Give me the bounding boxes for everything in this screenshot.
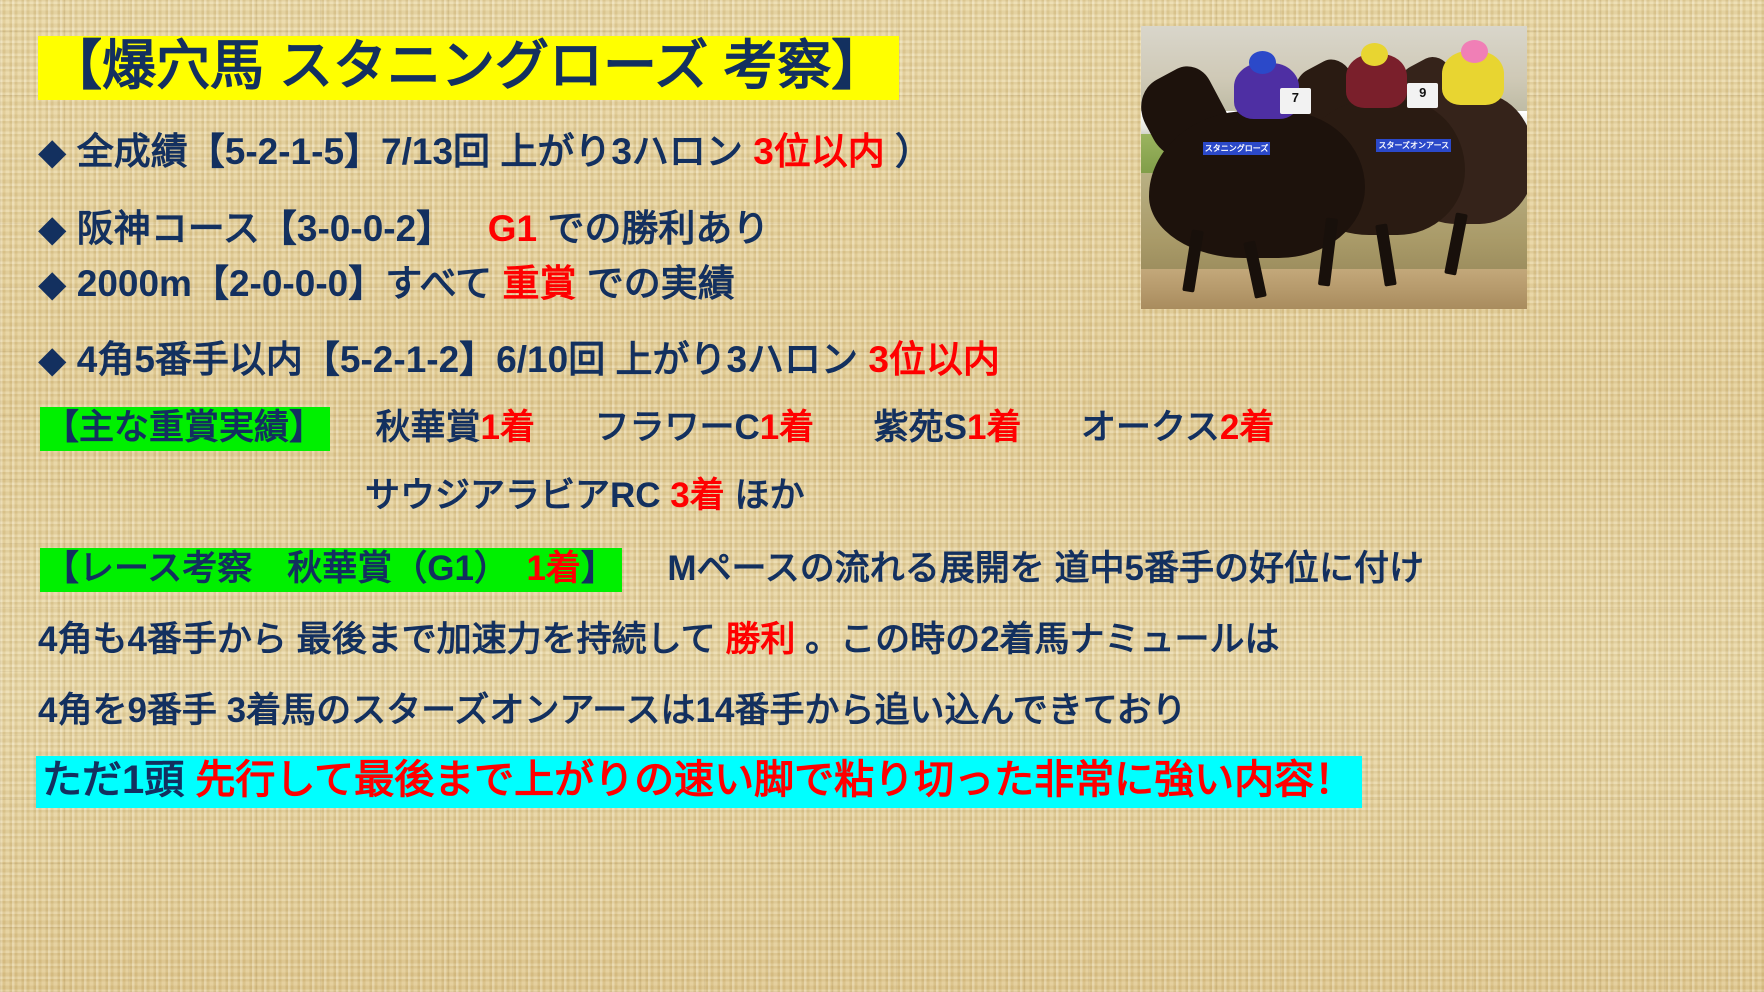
- race-review-heading: 【レース考察 秋華賞（G1） 1着】: [40, 548, 622, 592]
- major-win-race: 紫苑S: [874, 408, 967, 447]
- hanshin-course-tail: での勝利あり: [547, 208, 769, 249]
- race-review-body-2-post: 。この時の2着馬ナミュールは: [805, 620, 1279, 659]
- hanshin-course-emphasis: G1: [488, 208, 537, 249]
- photo-jockey-cap: [1461, 40, 1488, 63]
- major-wins-heading: 【主な重賞実績】: [40, 407, 330, 451]
- major-wins-second-row: サウジアラビアRC 3着 ほか: [365, 478, 805, 513]
- photo-jockey-cap: [1249, 51, 1276, 74]
- fourth-corner-label: 4角5番手以内【5-2-1-2】6/10回 上がり3ハロン: [77, 339, 858, 380]
- page-title: 【爆穴馬 スタニングローズ 考察】: [38, 36, 899, 100]
- conclusion-emphasis: 先行して最後まで上がりの速い脚で粘り切った非常に強い内容！: [195, 758, 1354, 802]
- stat-line-distance-2000: ◆ 2000m【2-0-0-0】すべて 重賞 での実績: [38, 265, 735, 302]
- race-review-body-2-emphasis: 勝利: [725, 620, 795, 659]
- race-review-body-3-row: 4角を9番手 3着馬のスターズオンアースは14番手から追い込んできており: [38, 693, 1187, 728]
- conclusion-pre: ただ1頭: [42, 758, 195, 802]
- photo-jockey-cap: [1361, 43, 1388, 66]
- slide-canvas: 【爆穴馬 スタニングローズ 考察】 9 スターズオンアース 7 スタニングローズ…: [0, 0, 1764, 992]
- conclusion-highlight: ただ1頭 先行して最後まで上がりの速い脚で粘り切った非常に強い内容！: [36, 756, 1362, 808]
- distance-2000-label: 2000m【2-0-0-0】すべて: [77, 263, 492, 304]
- distance-2000-emphasis: 重賞: [502, 263, 576, 304]
- major-win-race: サウジアラビアRC: [365, 476, 661, 515]
- race-review-heading-post: 】: [581, 549, 616, 588]
- conclusion-row: ただ1頭 先行して最後まで上がりの速い脚で粘り切った非常に強い内容！: [36, 760, 1362, 800]
- major-win-item: フラワーC1着: [594, 408, 814, 447]
- bullet-diamond-icon: ◆: [38, 339, 66, 380]
- photo-saddle-number: 7: [1280, 88, 1311, 113]
- major-win-race: フラワーC: [594, 408, 759, 447]
- bullet-diamond-icon: ◆: [38, 263, 66, 304]
- major-win-place: 1着: [481, 408, 535, 447]
- major-win-item: オークス2着: [1081, 408, 1274, 447]
- stat-line-hanshin-course: ◆ 阪神コース【3-0-0-2】 G1 での勝利あり: [38, 210, 769, 247]
- total-record-emphasis: 3位以内: [753, 131, 885, 172]
- major-win-place: 2着: [1220, 408, 1274, 447]
- page-title-text: 【爆穴馬 スタニングローズ 考察】: [48, 36, 885, 96]
- major-win-race: 秋華賞: [375, 408, 480, 447]
- major-win-place: 1着: [967, 408, 1021, 447]
- major-win-race: オークス: [1081, 408, 1220, 447]
- photo-track-edge: [1141, 269, 1527, 309]
- horse-race-photo: 9 スターズオンアース 7 スタニングローズ: [1141, 26, 1527, 309]
- total-record-label: 全成績【5-2-1-5】7/13回 上がり3ハロン: [77, 131, 743, 172]
- fourth-corner-emphasis: 3位以内: [868, 339, 1000, 380]
- major-win-item: 秋華賞1着: [375, 408, 534, 447]
- major-win-item: 紫苑S1着: [874, 408, 1022, 447]
- race-review-body-3: 4角を9番手 3着馬のスターズオンアースは14番手から追い込んできており: [38, 691, 1187, 730]
- major-win-place: 3着: [670, 476, 724, 515]
- race-review-heading-row: 【レース考察 秋華賞（G1） 1着】 Mペースの流れる展開を 道中5番手の好位に…: [40, 551, 1424, 586]
- stat-line-fourth-corner: ◆ 4角5番手以内【5-2-1-2】6/10回 上がり3ハロン 3位以内: [38, 341, 1000, 378]
- stat-line-total-record: ◆ 全成績【5-2-1-5】7/13回 上がり3ハロン 3位以内 ）: [38, 133, 932, 170]
- distance-2000-tail: での実績: [587, 263, 735, 304]
- major-win-place: 1着: [760, 408, 814, 447]
- total-record-tail: ）: [895, 131, 932, 172]
- race-review-body-1: Mペースの流れる展開を 道中5番手の好位に付け: [667, 549, 1424, 588]
- race-review-heading-pre: 【レース考察 秋華賞（G1）: [44, 549, 526, 588]
- photo-horse-name: スタニングローズ: [1203, 142, 1271, 155]
- major-wins-tail: ほか: [735, 476, 805, 515]
- hanshin-course-label: 阪神コース【3-0-0-2】: [77, 208, 453, 249]
- bullet-diamond-icon: ◆: [38, 131, 66, 172]
- bullet-diamond-icon: ◆: [38, 208, 66, 249]
- photo-saddle-number: 9: [1407, 83, 1438, 108]
- major-wins-row: 【主な重賞実績】 秋華賞1着 フラワーC1着 紫苑S1着 オークス2着: [40, 410, 1274, 445]
- race-review-body-2-pre: 4角も4番手から 最後まで加速力を持続して: [38, 620, 716, 659]
- photo-horse-name: スターズオンアース: [1376, 139, 1451, 152]
- race-review-heading-emphasis: 1着: [526, 549, 580, 588]
- race-review-body-2-row: 4角も4番手から 最後まで加速力を持続して 勝利 。この時の2着馬ナミュールは: [38, 622, 1280, 657]
